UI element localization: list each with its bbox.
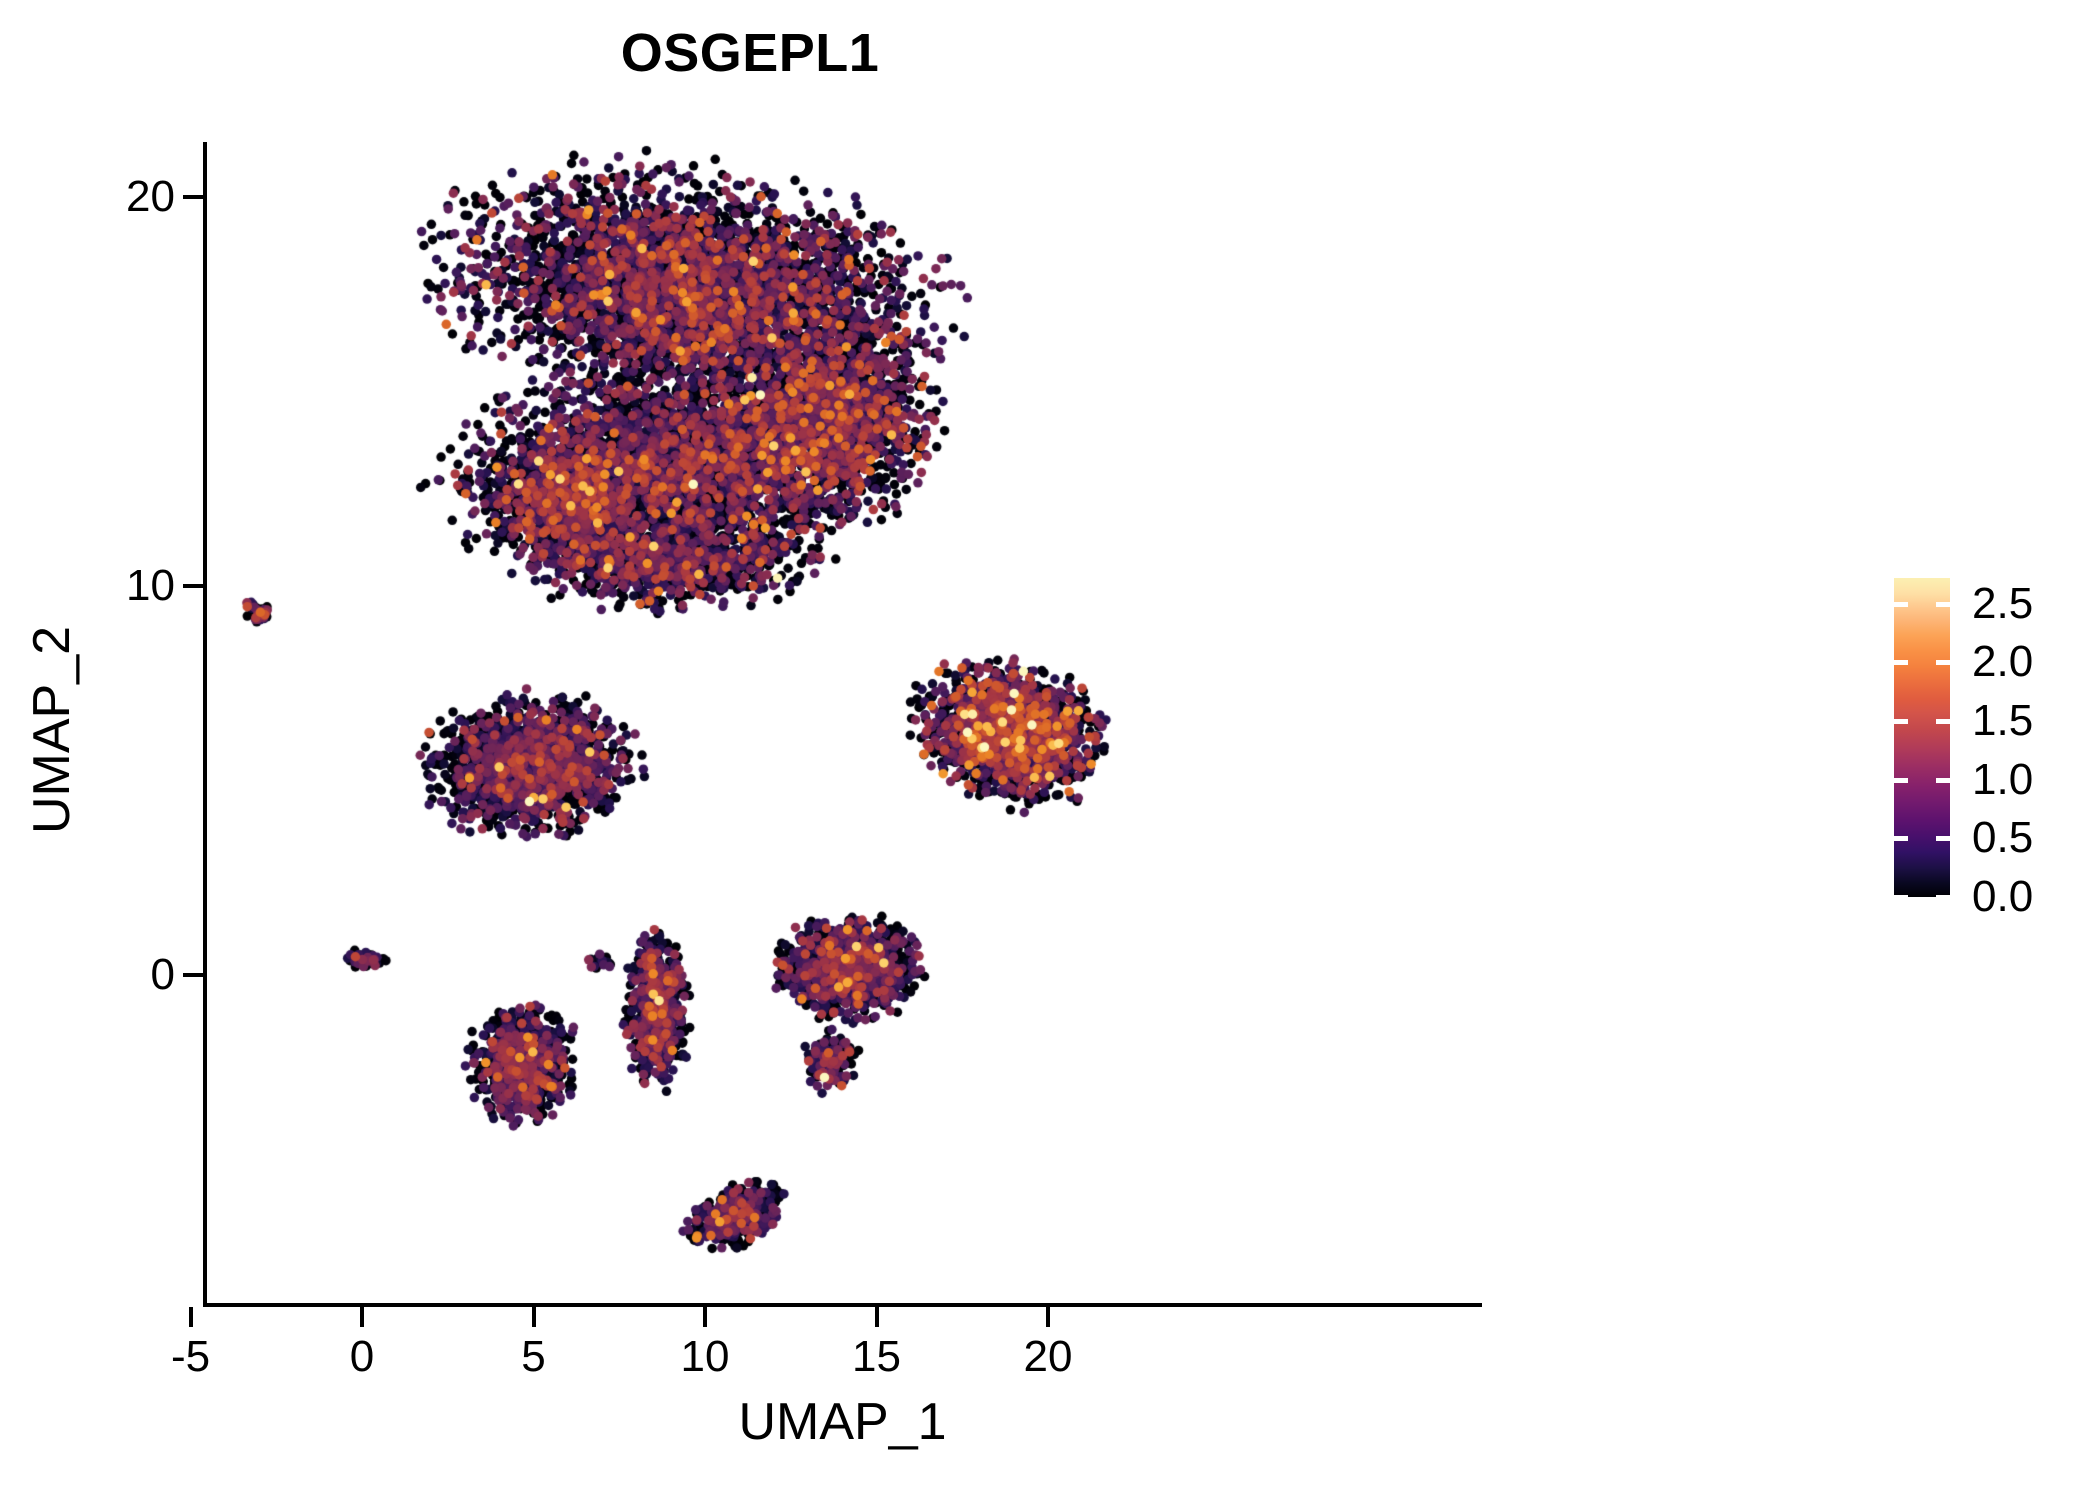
x-tick-mark xyxy=(1046,1307,1050,1327)
y-tick-mark xyxy=(183,584,203,588)
colorbar-tick-mark xyxy=(1936,778,1950,783)
colorbar-tick-mark xyxy=(1894,836,1908,841)
colorbar-tick-mark xyxy=(1936,719,1950,724)
x-tick-mark xyxy=(703,1307,707,1327)
x-tick-label: -5 xyxy=(171,1332,210,1382)
colorbar-tick-label: 2.0 xyxy=(1972,640,2033,684)
colorbar-gradient xyxy=(1894,578,1950,897)
colorbar-tick-label: 2.5 xyxy=(1972,582,2033,626)
y-tick-label: 0 xyxy=(151,953,175,997)
colorbar-tick-label: 0.0 xyxy=(1972,875,2033,919)
y-tick-label: 20 xyxy=(126,175,175,219)
y-axis-title: UMAP_2 xyxy=(22,450,82,1010)
x-tick-label: 20 xyxy=(1024,1332,1073,1382)
colorbar-tick-mark xyxy=(1894,895,1908,900)
y-axis-line xyxy=(203,142,207,1307)
colorbar-tick-label: 1.0 xyxy=(1972,758,2033,802)
colorbar-tick-mark xyxy=(1936,836,1950,841)
color-legend: 2.52.01.51.00.50.0 xyxy=(1894,578,2084,908)
scatter-canvas xyxy=(205,142,1481,1303)
feature-plot-root: OSGEPL1 01020 -505101520 UMAP_1 UMAP_2 2… xyxy=(0,0,2100,1500)
colorbar-tick-mark xyxy=(1936,660,1950,665)
x-tick-mark xyxy=(189,1307,193,1327)
colorbar-tick-mark xyxy=(1894,719,1908,724)
y-tick-label: 10 xyxy=(126,564,175,608)
colorbar-tick-mark xyxy=(1936,895,1950,900)
x-axis-line xyxy=(203,1303,1482,1307)
colorbar-tick-mark xyxy=(1894,778,1908,783)
y-tick-mark xyxy=(183,973,203,977)
x-tick-label: 15 xyxy=(852,1332,901,1382)
x-tick-mark xyxy=(875,1307,879,1327)
colorbar-tick-label: 0.5 xyxy=(1972,816,2033,860)
x-tick-label: 5 xyxy=(521,1332,545,1382)
colorbar-tick-mark xyxy=(1936,602,1950,607)
colorbar-tick-label: 1.5 xyxy=(1972,699,2033,743)
x-tick-mark xyxy=(360,1307,364,1327)
y-tick-mark xyxy=(183,195,203,199)
x-tick-label: 10 xyxy=(681,1332,730,1382)
x-tick-label: 0 xyxy=(350,1332,374,1382)
colorbar-tick-mark xyxy=(1894,602,1908,607)
page-title: OSGEPL1 xyxy=(0,22,1500,84)
x-axis-title: UMAP_1 xyxy=(203,1392,1482,1452)
scatter-plot-panel xyxy=(205,142,1481,1303)
x-tick-mark xyxy=(532,1307,536,1327)
colorbar-tick-mark xyxy=(1894,660,1908,665)
